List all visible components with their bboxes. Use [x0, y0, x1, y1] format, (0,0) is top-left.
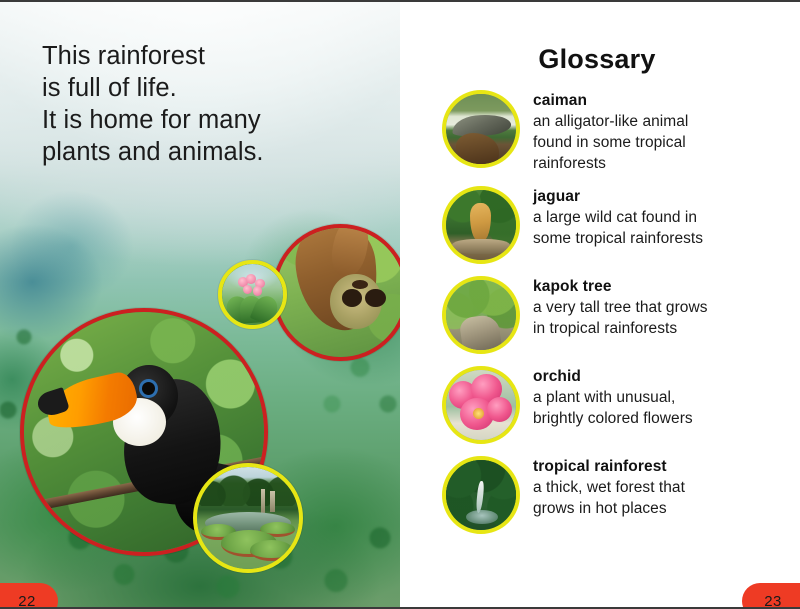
sloth-artwork: [276, 228, 400, 357]
glossary-entry-orchid: orchid a plant with unusual, brightly co…: [442, 366, 794, 444]
glossary-term: orchid: [533, 367, 794, 387]
glossary-definition: a very tall tree that grows in tropical …: [533, 297, 794, 339]
glossary-text-kapok-tree: kapok tree a very tall tree that grows i…: [533, 276, 794, 339]
glossary-term: tropical rainforest: [533, 457, 794, 477]
photo-sloth: [272, 224, 400, 361]
glossary-list: caiman an alligator-like animal found in…: [442, 90, 794, 546]
glossary-definition: an alligator-like animal found in some t…: [533, 111, 794, 174]
page-number-left: 22: [0, 583, 58, 609]
glossary-definition: a plant with unusual, brightly colored f…: [533, 387, 794, 429]
glossary-entry-caiman: caiman an alligator-like animal found in…: [442, 90, 794, 174]
page-number-right: 23: [742, 583, 800, 609]
glossary-term: caiman: [533, 91, 794, 111]
glossary-term: jaguar: [533, 187, 794, 207]
left-page: This rainforest is full of life. It is h…: [0, 2, 400, 609]
book-spread: This rainforest is full of life. It is h…: [0, 0, 800, 609]
thumbnail-kapok-tree: [442, 276, 520, 354]
photo-orchid-plant: [218, 260, 287, 329]
glossary-text-jaguar: jaguar a large wild cat found in some tr…: [533, 186, 794, 249]
orchid-plant-artwork: [222, 264, 283, 325]
thumbnail-caiman: [442, 90, 520, 168]
page-headline: This rainforest is full of life. It is h…: [42, 40, 372, 168]
glossary-entry-kapok-tree: kapok tree a very tall tree that grows i…: [442, 276, 794, 354]
glossary-entry-jaguar: jaguar a large wild cat found in some tr…: [442, 186, 794, 264]
thumbnail-tropical-rainforest: [442, 456, 520, 534]
glossary-entry-tropical-rainforest: tropical rainforest a thick, wet forest …: [442, 456, 794, 534]
thumbnail-orchid: [442, 366, 520, 444]
thumbnail-jaguar: [442, 186, 520, 264]
lily-pond-artwork: [197, 467, 299, 569]
glossary-text-caiman: caiman an alligator-like animal found in…: [533, 90, 794, 174]
glossary-text-tropical-rainforest: tropical rainforest a thick, wet forest …: [533, 456, 794, 519]
glossary-term: kapok tree: [533, 277, 794, 297]
glossary-text-orchid: orchid a plant with unusual, brightly co…: [533, 366, 794, 429]
photo-lily-pond: [193, 463, 303, 573]
glossary-title: Glossary: [400, 44, 800, 75]
right-page: Glossary caiman an alligator-like animal…: [400, 2, 800, 609]
glossary-definition: a large wild cat found in some tropical …: [533, 207, 794, 249]
glossary-definition: a thick, wet forest that grows in hot pl…: [533, 477, 794, 519]
